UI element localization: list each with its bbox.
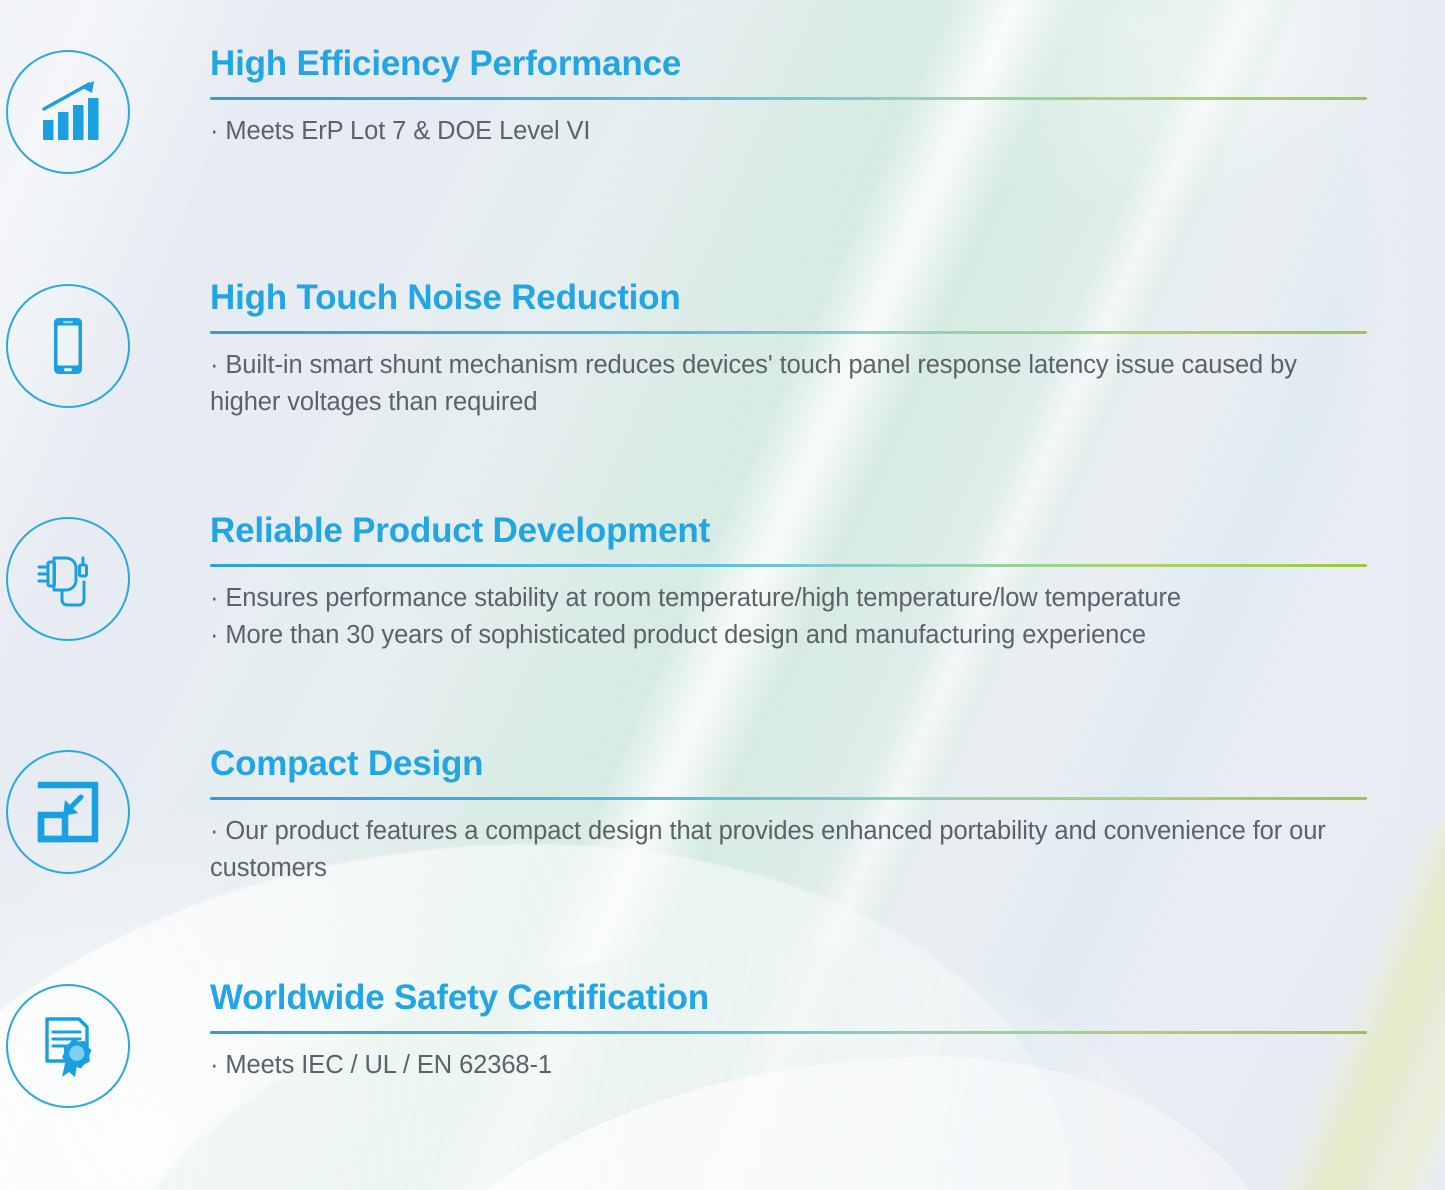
- feature-icon-container: [0, 46, 135, 174]
- growth-bar-chart-icon: [6, 50, 130, 174]
- feature-list: High Efficiency Performance · Meets ErP …: [0, 0, 1445, 1190]
- feature-bullet: · Meets IEC / UL / EN 62368-1: [210, 1047, 1367, 1084]
- feature-item-worldwide-safety-certification: Worldwide Safety Certification · Meets I…: [0, 980, 1445, 1108]
- feature-bullet: · Our product features a compact design …: [210, 813, 1367, 887]
- power-adapter-icon: [6, 517, 130, 641]
- feature-description: · Meets IEC / UL / EN 62368-1: [210, 1047, 1367, 1084]
- smartphone-icon: [6, 284, 130, 408]
- feature-text-block: Worldwide Safety Certification · Meets I…: [135, 980, 1445, 1084]
- feature-text-block: High Efficiency Performance · Meets ErP …: [135, 46, 1445, 150]
- feature-icon-container: [0, 746, 135, 874]
- feature-description: · Ensures performance stability at room …: [210, 580, 1367, 654]
- feature-divider: [210, 97, 1367, 100]
- feature-text-block: Compact Design · Our product features a …: [135, 746, 1445, 887]
- feature-divider: [210, 564, 1367, 567]
- feature-bullet: · Ensures performance stability at room …: [210, 580, 1367, 617]
- feature-divider: [210, 1031, 1367, 1034]
- feature-divider: [210, 331, 1367, 334]
- feature-divider: [210, 797, 1367, 800]
- feature-item-compact-design: Compact Design · Our product features a …: [0, 746, 1445, 887]
- feature-icon-container: [0, 513, 135, 641]
- feature-bullet: · Built-in smart shunt mechanism reduces…: [210, 347, 1367, 421]
- certificate-award-icon: [6, 984, 130, 1108]
- feature-item-high-efficiency-performance: High Efficiency Performance · Meets ErP …: [0, 46, 1445, 174]
- compact-resize-icon: [6, 750, 130, 874]
- feature-description: · Built-in smart shunt mechanism reduces…: [210, 347, 1367, 421]
- feature-icon-container: [0, 280, 135, 408]
- feature-description: · Our product features a compact design …: [210, 813, 1367, 887]
- feature-icon-container: [0, 980, 135, 1108]
- feature-bullet: · Meets ErP Lot 7 & DOE Level VI: [210, 113, 1367, 150]
- feature-title: High Efficiency Performance: [210, 46, 1367, 83]
- feature-text-block: Reliable Product Development · Ensures p…: [135, 513, 1445, 654]
- feature-title: Worldwide Safety Certification: [210, 980, 1367, 1017]
- feature-title: Compact Design: [210, 746, 1367, 783]
- feature-item-reliable-product-development: Reliable Product Development · Ensures p…: [0, 513, 1445, 654]
- feature-title: Reliable Product Development: [210, 513, 1367, 550]
- feature-title: High Touch Noise Reduction: [210, 280, 1367, 317]
- feature-bullet: · More than 30 years of sophisticated pr…: [210, 617, 1367, 654]
- feature-item-high-touch-noise-reduction: High Touch Noise Reduction · Built-in sm…: [0, 280, 1445, 421]
- feature-description: · Meets ErP Lot 7 & DOE Level VI: [210, 113, 1367, 150]
- feature-text-block: High Touch Noise Reduction · Built-in sm…: [135, 280, 1445, 421]
